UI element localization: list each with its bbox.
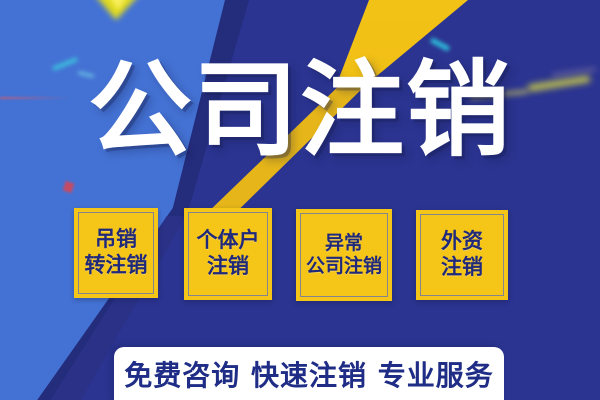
service-badge-row: 吊销 转注销 个体户 注销 异常 公司注销 外资 注销 <box>72 206 528 300</box>
badge-label: 异常 公司注销 <box>306 232 382 278</box>
badge-label: 个体户 注销 <box>197 228 260 279</box>
badge-label-line1: 吊销 <box>85 227 148 253</box>
badge-label-line2: 注销 <box>441 255 483 281</box>
badge-label-line2: 注销 <box>197 254 260 280</box>
page-title: 公司注销 <box>0 58 600 162</box>
badge-getihu-zhuxiao[interactable]: 个体户 注销 <box>184 208 272 300</box>
badge-label-line2: 公司注销 <box>306 255 382 278</box>
badge-waizi-zhuxiao[interactable]: 外资 注销 <box>416 210 508 300</box>
badge-label-line2: 转注销 <box>85 253 148 279</box>
badge-label-line1: 异常 <box>306 232 382 255</box>
poster-canvas: 公司注销 吊销 转注销 个体户 注销 异常 公司注销 外资 注销 <box>0 0 600 400</box>
badge-label-line1: 外资 <box>441 229 483 255</box>
badge-label: 吊销 转注销 <box>85 227 148 278</box>
footer-slogan-pill: 免费咨询 快速注销 专业服务 <box>114 347 504 400</box>
badge-yichang-gongsi-zhuxiao[interactable]: 异常 公司注销 <box>296 209 392 301</box>
badge-diaoxiao-zhuanzhuxiao[interactable]: 吊销 转注销 <box>74 208 158 298</box>
badge-label-line1: 个体户 <box>197 228 260 254</box>
badge-label: 外资 注销 <box>441 229 483 280</box>
footer-slogan-text: 免费咨询 快速注销 专业服务 <box>124 362 494 390</box>
